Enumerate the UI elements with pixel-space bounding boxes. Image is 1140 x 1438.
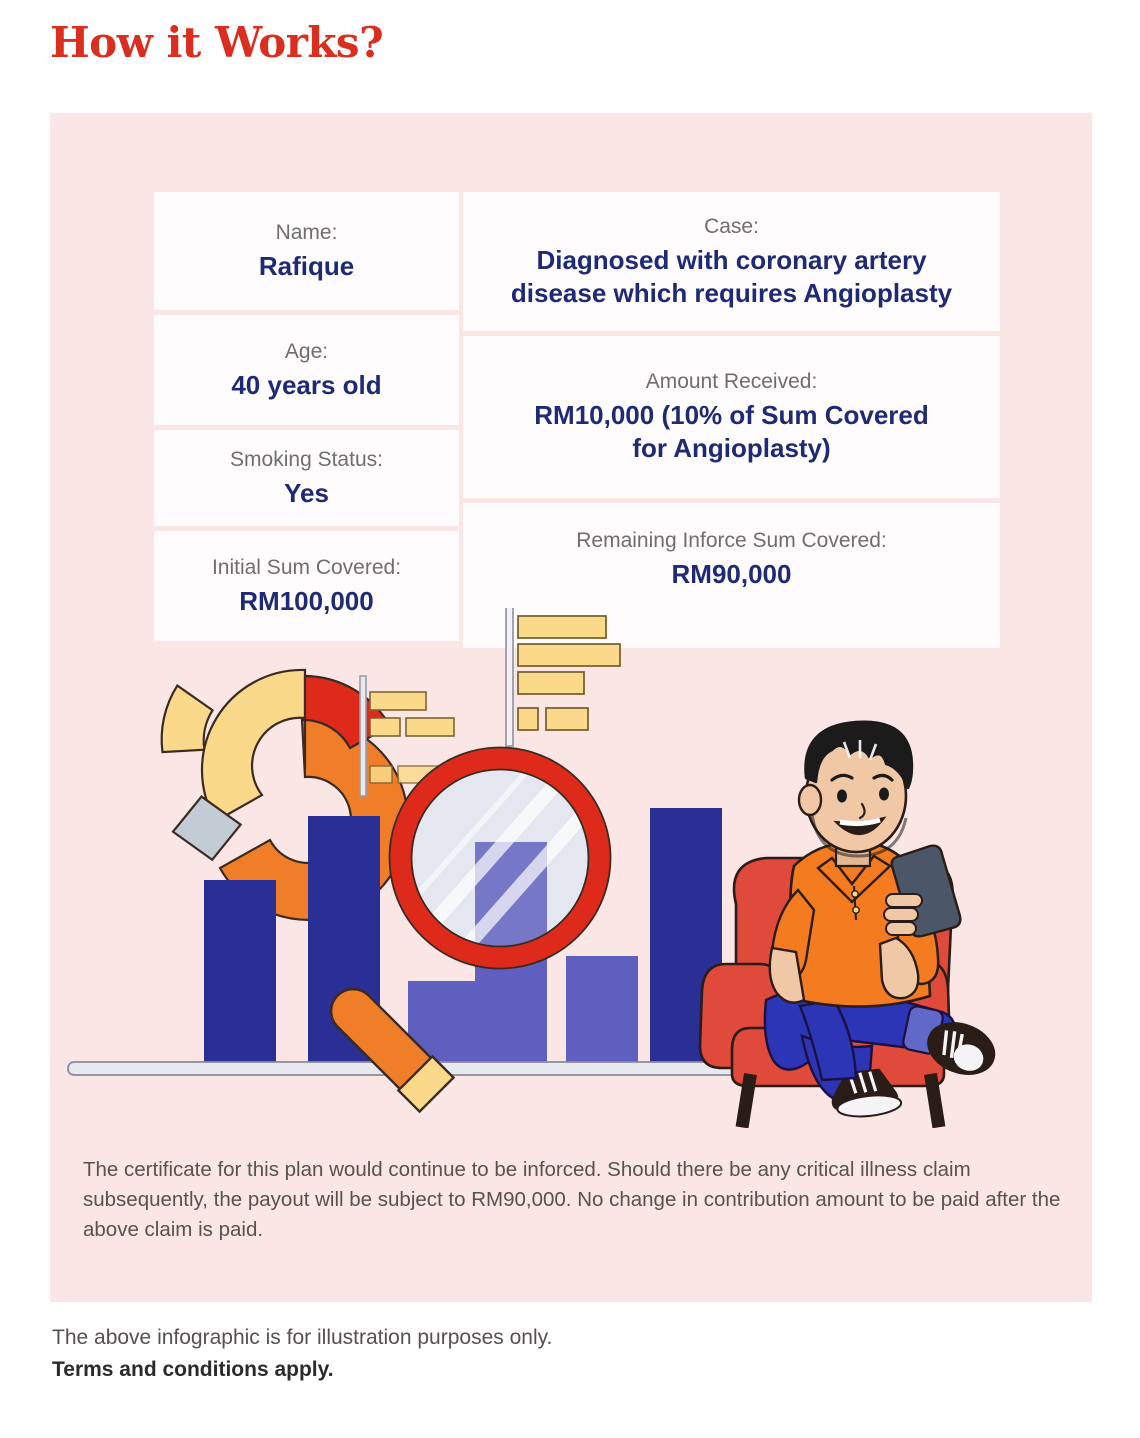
disclaimer-line-2: Terms and conditions apply.: [52, 1354, 852, 1386]
details-card-grid: Name: Rafique Age: 40 years old Smoking …: [154, 192, 1000, 648]
man-on-armchair-illustration: [700, 722, 1001, 1128]
illustration-graphic: [50, 608, 1092, 1128]
card-amount-value-line1: RM10,000 (10% of Sum Covered: [534, 399, 928, 432]
disclaimer-line-1: The above infographic is for illustratio…: [52, 1322, 852, 1354]
panel-footnote: The certificate for this plan would cont…: [83, 1155, 1073, 1245]
card-name-value: Rafique: [259, 250, 354, 283]
card-name: Name: Rafique: [154, 192, 459, 310]
card-initial-sum-label: Initial Sum Covered:: [212, 554, 401, 582]
card-smoking-label: Smoking Status:: [230, 446, 383, 474]
card-smoking-status: Smoking Status: Yes: [154, 430, 459, 526]
infographic-panel: Name: Rafique Age: 40 years old Smoking …: [50, 113, 1092, 1302]
card-case: Case: Diagnosed with coronary artery dis…: [463, 192, 1000, 331]
card-case-value-line1: Diagnosed with coronary artery: [536, 244, 926, 277]
card-name-label: Name:: [276, 219, 338, 247]
card-age-value: 40 years old: [231, 369, 381, 402]
floating-bar-chart-upper-icon: [506, 608, 620, 746]
page-title: How it Works?: [50, 18, 383, 67]
card-amount-received: Amount Received: RM10,000 (10% of Sum Co…: [463, 336, 1000, 498]
card-smoking-value: Yes: [284, 477, 329, 510]
card-age-label: Age:: [285, 338, 328, 366]
card-remaining-label: Remaining Inforce Sum Covered:: [576, 527, 886, 555]
card-amount-value-line2: for Angioplasty): [632, 432, 830, 465]
profile-column: Name: Rafique Age: 40 years old Smoking …: [154, 192, 459, 646]
disclaimer: The above infographic is for illustratio…: [52, 1322, 852, 1385]
card-age: Age: 40 years old: [154, 315, 459, 425]
card-remaining-value: RM90,000: [672, 558, 792, 591]
card-case-label: Case:: [704, 213, 759, 241]
card-case-value-line2: disease which requires Angioplasty: [511, 277, 952, 310]
claim-column: Case: Diagnosed with coronary artery dis…: [463, 192, 1000, 653]
card-amount-label: Amount Received:: [646, 368, 818, 396]
